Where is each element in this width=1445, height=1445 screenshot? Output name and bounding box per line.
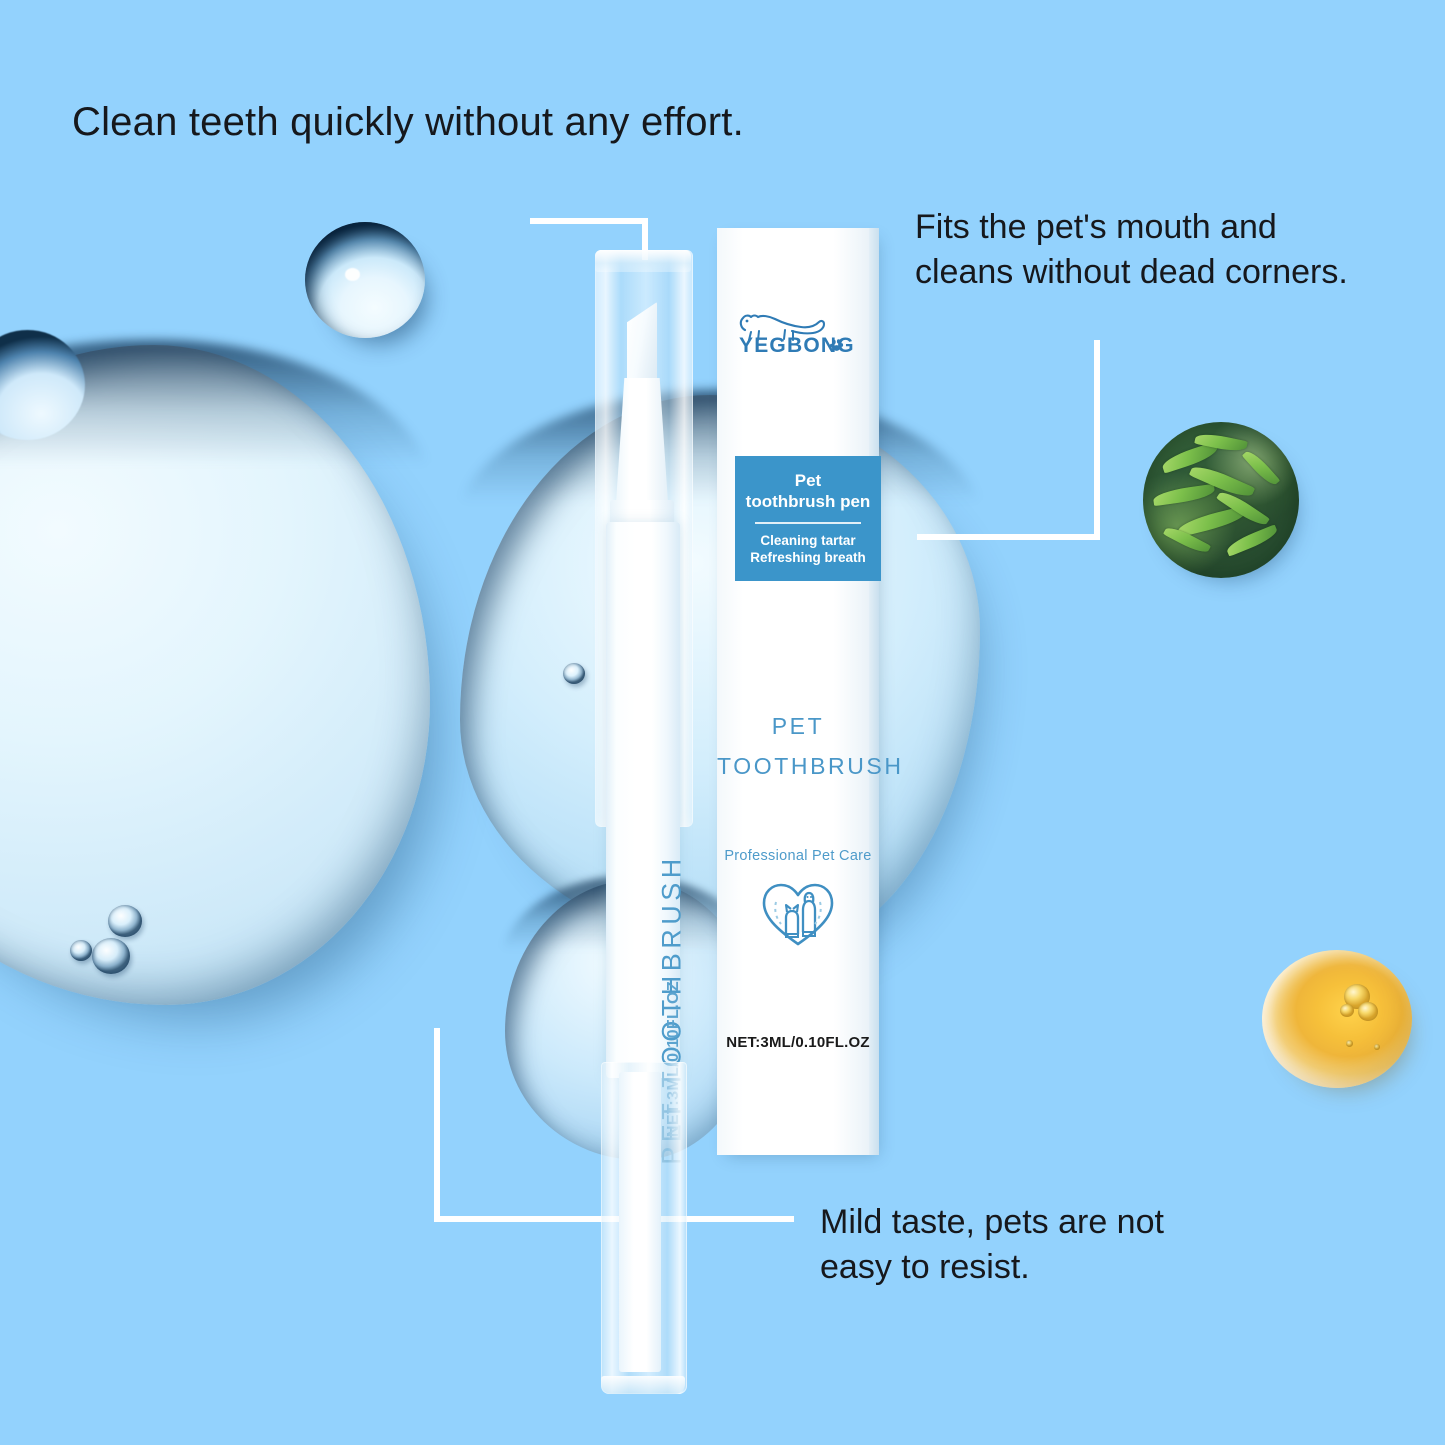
box-care-text: Professional Pet Care — [717, 848, 879, 864]
gel-blob-left-rim — [0, 340, 435, 500]
band-sub-line1: Cleaning tartar — [741, 532, 875, 550]
taste-callout-caption: Mild taste, pets are not easy to resist. — [820, 1200, 1164, 1290]
paw-print-icon — [829, 337, 845, 353]
bubble-icon — [563, 663, 585, 684]
brand-logo: YEGBONG — [729, 306, 869, 368]
pen-base-ring — [601, 1376, 685, 1394]
callout-line-right-vertical — [1094, 340, 1100, 540]
box-blue-band: Pet toothbrush pen Cleaning tartar Refre… — [735, 456, 881, 581]
band-sub-line2: Refreshing breath — [741, 549, 875, 567]
callout-line-bottom-vertical — [434, 1028, 440, 1222]
box-right-edge — [869, 228, 879, 1155]
box-title-line2: TOOTHBRUSH — [717, 746, 879, 786]
box-middle-title: PET TOOTHBRUSH — [717, 706, 879, 787]
band-divider — [755, 522, 861, 524]
product-box: YEGBONG Pet toothbrush pen Cleaning tart… — [717, 228, 879, 1155]
heart-with-dog-and-cat-icon — [759, 878, 837, 955]
water-droplet-highlight — [345, 268, 360, 281]
pen-barrel: PET TOOTHBRUSH NET:3ML/0.10FL.OZ — [606, 522, 680, 1078]
callout-line-top-horizontal — [530, 218, 648, 224]
callout-line-right-horizontal — [917, 534, 1100, 540]
box-title-line1: PET — [717, 706, 879, 746]
taste-callout-line2: easy to resist. — [820, 1245, 1164, 1290]
toothbrush-pen-product: PET TOOTHBRUSH NET:3ML/0.10FL.OZ — [583, 250, 703, 1150]
water-droplet-icon — [305, 222, 425, 338]
fit-callout-line2: cleans without dead corners. — [915, 250, 1348, 295]
bubble-icon — [92, 938, 130, 974]
pen-cone — [616, 378, 668, 503]
product-infographic: PET TOOTHBRUSH NET:3ML/0.10FL.OZ YEGBONG — [0, 0, 1445, 1445]
fit-callout-line1: Fits the pet's mouth and — [915, 205, 1348, 250]
fit-callout-caption: Fits the pet's mouth and cleans without … — [915, 205, 1348, 295]
gel-blob-left — [0, 345, 430, 1005]
herb-circle-icon — [1143, 422, 1299, 578]
water-droplet-edge — [0, 330, 85, 440]
pen-inner-rod — [619, 1072, 661, 1372]
bubble-icon — [70, 940, 92, 961]
band-title-line1: Pet — [741, 470, 875, 491]
box-net-weight: NET:3ML/0.10FL.OZ — [717, 1034, 879, 1051]
page-headline: Clean teeth quickly without any effort. — [72, 100, 744, 145]
band-title-line2: toothbrush pen — [741, 491, 875, 512]
taste-callout-line1: Mild taste, pets are not — [820, 1200, 1164, 1245]
bubble-icon — [108, 905, 142, 937]
honey-circle-icon — [1262, 950, 1412, 1088]
pen-cap-top — [595, 250, 691, 272]
